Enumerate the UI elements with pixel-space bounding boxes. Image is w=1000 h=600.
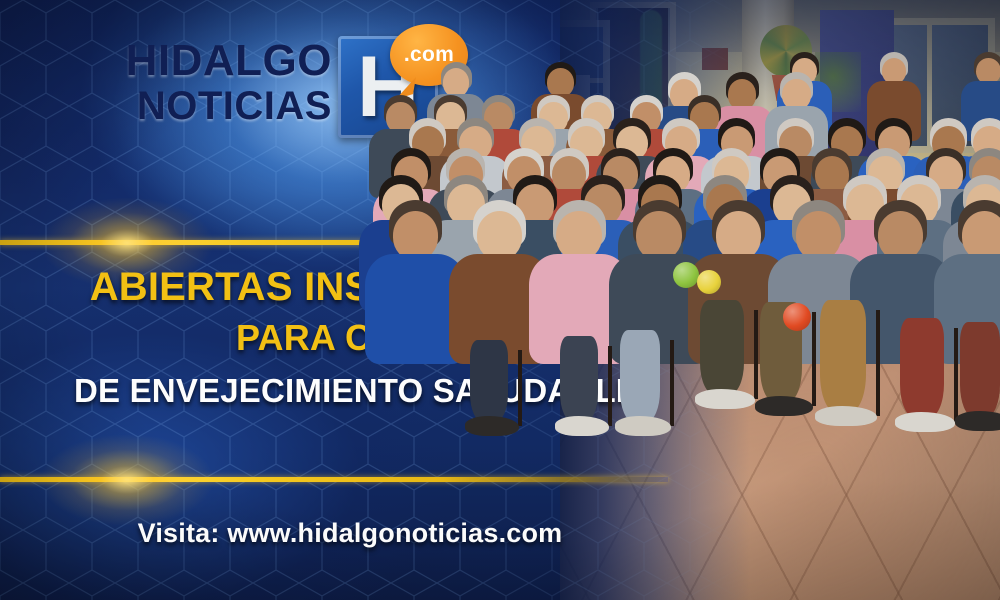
green-ball bbox=[673, 262, 699, 288]
shoe bbox=[955, 411, 1000, 431]
divider-glow-bottom bbox=[42, 435, 212, 525]
chair-leg bbox=[954, 328, 958, 422]
chair-leg bbox=[754, 310, 758, 399]
yellow-bottle bbox=[697, 270, 721, 294]
shoe bbox=[815, 406, 877, 426]
visit-website-text: Visita: www.hidalgonoticias.com bbox=[0, 518, 700, 549]
chair-leg bbox=[876, 310, 880, 416]
brand-line-1: HIDALGO bbox=[100, 38, 332, 84]
chair-leg bbox=[670, 340, 674, 426]
chair-leg bbox=[518, 350, 522, 426]
brand-wordmark: HIDALGO NOTICIAS bbox=[100, 38, 332, 128]
shoe bbox=[895, 412, 955, 432]
seated-legs bbox=[820, 300, 866, 412]
shoe bbox=[615, 416, 671, 436]
shoe bbox=[755, 396, 813, 416]
red-ball bbox=[783, 303, 811, 331]
shoe bbox=[465, 416, 519, 436]
shoe bbox=[555, 416, 609, 436]
news-banner: HIDALGO NOTICIAS H .com ABIERTAS INSCRIP… bbox=[0, 0, 1000, 600]
seated-legs bbox=[960, 322, 1000, 417]
footer-block: Visita: www.hidalgonoticias.com bbox=[0, 518, 700, 549]
seated-legs bbox=[470, 340, 508, 422]
chair-leg bbox=[812, 312, 816, 406]
seated-legs bbox=[700, 300, 744, 395]
seated-legs bbox=[560, 336, 598, 422]
shoe bbox=[695, 389, 755, 409]
brand-line-2: NOTICIAS bbox=[100, 84, 332, 128]
chair-leg bbox=[608, 346, 612, 426]
seated-legs bbox=[620, 330, 660, 422]
headline-line-3: DE ENVEJECIMIENTO SALUDABLE bbox=[0, 364, 712, 418]
seated-legs bbox=[900, 318, 944, 418]
